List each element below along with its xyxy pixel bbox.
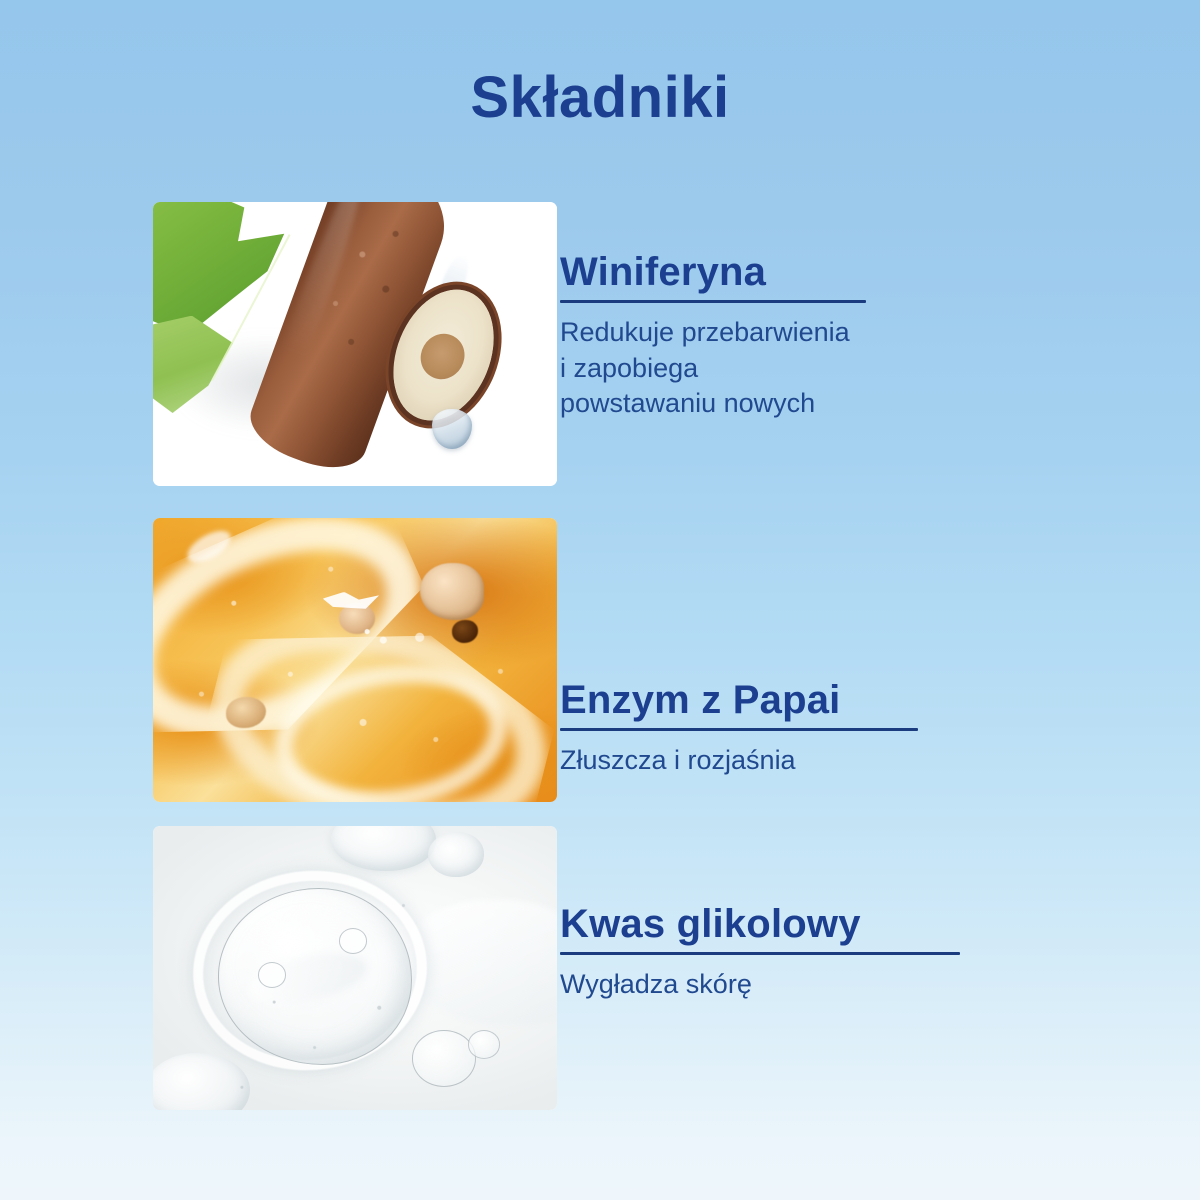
ingredient-row-kwas-glikolowy: Kwas glikolowy Wygładza skórę bbox=[0, 826, 1200, 1110]
ingredient-text-2: Enzym z Papai Złuszcza i rozjaśnia bbox=[560, 678, 1120, 779]
cane-core bbox=[413, 326, 473, 388]
ingredient-divider-1 bbox=[560, 300, 866, 303]
ingredient-name-3: Kwas glikolowy bbox=[560, 902, 1120, 946]
ingredient-row-enzym-z-papai: Enzym z Papai Złuszcza i rozjaśnia bbox=[0, 518, 1200, 802]
winiferyna-vine-cane-photo bbox=[153, 202, 557, 486]
ingredient-image-card-2 bbox=[153, 518, 557, 802]
ingredient-image-card-3 bbox=[153, 826, 557, 1110]
ingredient-text-3: Kwas glikolowy Wygładza skórę bbox=[560, 902, 1120, 1003]
glycolic-acid-clear-gel-photo bbox=[153, 826, 557, 1110]
ingredient-image-card-1 bbox=[153, 202, 557, 486]
ingredient-divider-3 bbox=[560, 952, 960, 955]
sap-droplet bbox=[432, 409, 472, 449]
ingredient-description-3: Wygładza skórę bbox=[560, 967, 1120, 1003]
ingredient-name-1: Winiferyna bbox=[560, 250, 1120, 294]
ingredient-divider-2 bbox=[560, 728, 918, 731]
ingredients-poster: Składniki Winiferyna Redukuje prz bbox=[0, 0, 1200, 1200]
page-title: Składniki bbox=[0, 68, 1200, 129]
ingredient-description-2: Złuszcza i rozjaśnia bbox=[560, 743, 1120, 779]
ingredient-description-1: Redukuje przebarwienia i zapobiega powst… bbox=[560, 315, 1120, 422]
ingredient-text-1: Winiferyna Redukuje przebarwienia i zapo… bbox=[560, 250, 1120, 422]
gel-microbubbles bbox=[153, 826, 557, 1110]
ingredient-name-2: Enzym z Papai bbox=[560, 678, 1120, 722]
ingredient-row-winiferyna: Winiferyna Redukuje przebarwienia i zapo… bbox=[0, 202, 1200, 486]
papaya-enzyme-gel-photo bbox=[153, 518, 557, 802]
gel-bubbles bbox=[153, 518, 557, 802]
